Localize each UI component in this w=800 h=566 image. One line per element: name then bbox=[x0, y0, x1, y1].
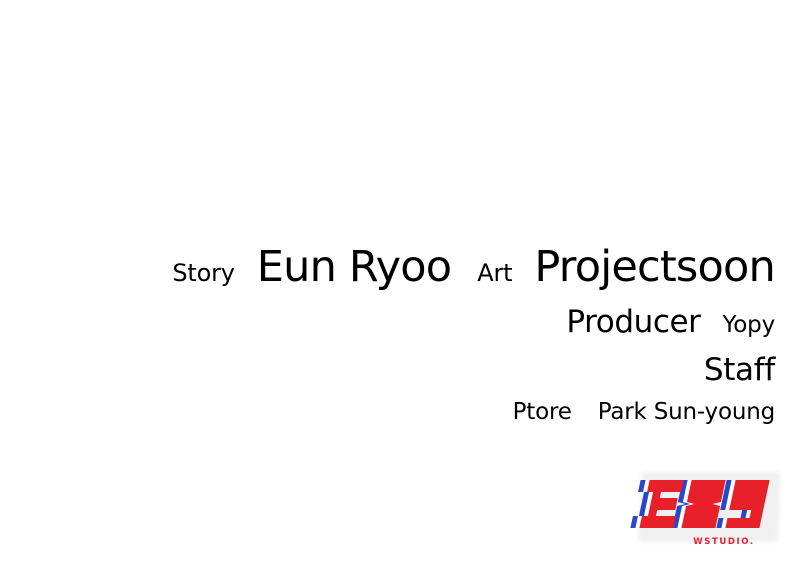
credit-name-staff-one: Ptore bbox=[513, 399, 572, 425]
role-label-story: Story bbox=[172, 259, 234, 287]
role-label-producer: Producer bbox=[566, 304, 700, 340]
credits-block: StoryEun RyooArtProjectsoon ProducerYopy… bbox=[15, 246, 775, 424]
credit-name-producer: Yopy bbox=[723, 312, 775, 338]
credit-line-staff-names: PtorePark Sun-young bbox=[15, 401, 775, 424]
logo-digits-red bbox=[639, 480, 769, 528]
credit-line-story-art: StoryEun RyooArtProjectsoon bbox=[15, 246, 775, 289]
staff-heading-label: Staff bbox=[704, 352, 775, 388]
credit-name-staff-two: Park Sun-young bbox=[598, 399, 775, 425]
credit-name-story: Eun Ryoo bbox=[257, 242, 452, 292]
credit-name-art: Projectsoon bbox=[534, 242, 775, 292]
credit-line-producer: ProducerYopy bbox=[15, 307, 775, 338]
role-label-art: Art bbox=[477, 259, 512, 287]
logo-subtext: WSTUDIO. bbox=[693, 537, 754, 547]
credits-page: StoryEun RyooArtProjectsoon ProducerYopy… bbox=[0, 0, 800, 566]
credit-line-staff-heading: Staff bbox=[15, 355, 775, 386]
studio-logo: WSTUDIO. bbox=[628, 464, 788, 556]
